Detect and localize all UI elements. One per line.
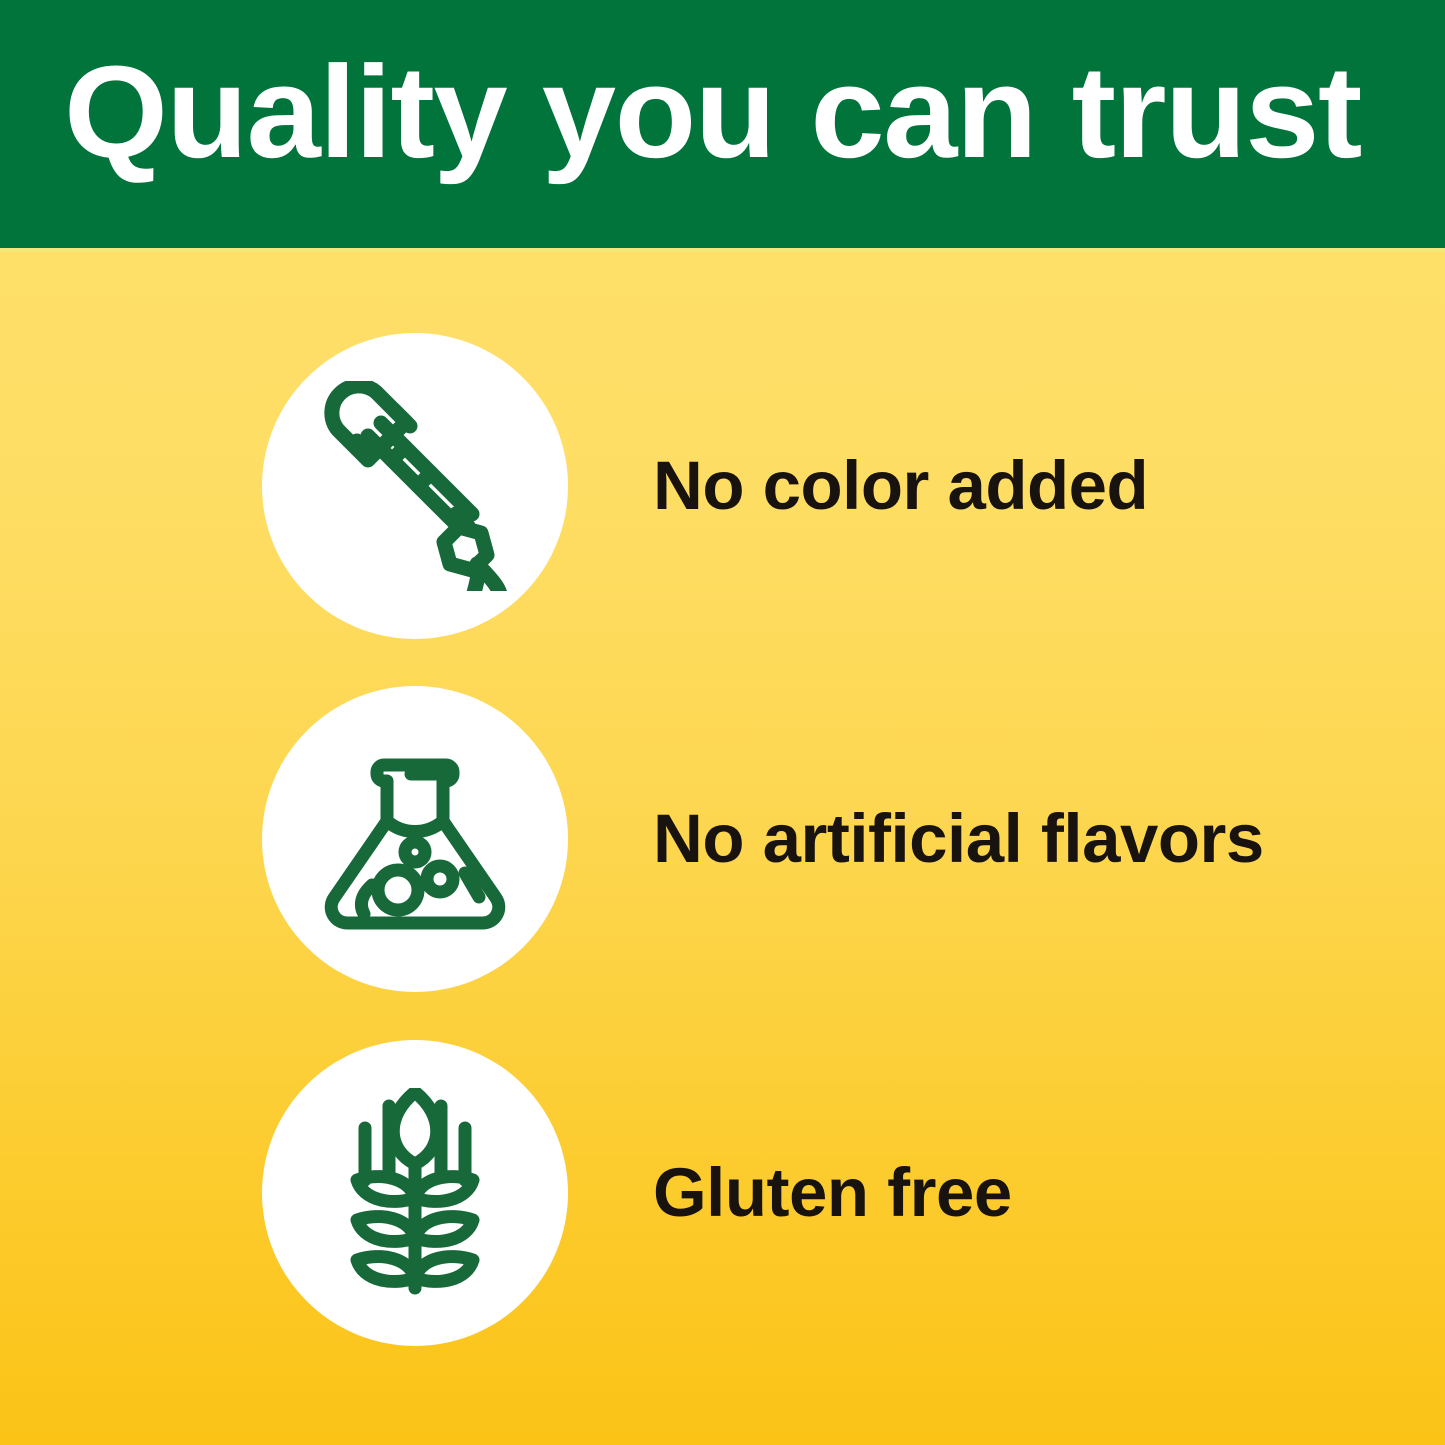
icon-badge-gluten-free xyxy=(262,1040,568,1346)
icon-badge-no-artificial-flavors xyxy=(262,686,568,992)
eyedropper-icon xyxy=(310,381,520,591)
quality-claims-infographic: Quality you can trust xyxy=(0,0,1445,1445)
feature-row: No artificial flavors xyxy=(0,686,1445,992)
feature-label-no-artificial-flavors: No artificial flavors xyxy=(653,803,1264,875)
feature-row: Gluten free xyxy=(0,1040,1445,1346)
icon-badge-no-color-added xyxy=(262,333,568,639)
feature-label-no-color-added: No color added xyxy=(653,450,1148,522)
page-title: Quality you can trust xyxy=(64,46,1431,177)
feature-row: No color added xyxy=(0,333,1445,639)
header-banner: Quality you can trust xyxy=(0,0,1445,248)
wheat-icon xyxy=(315,1088,515,1298)
flask-icon xyxy=(315,739,515,939)
feature-label-gluten-free: Gluten free xyxy=(653,1157,1012,1229)
